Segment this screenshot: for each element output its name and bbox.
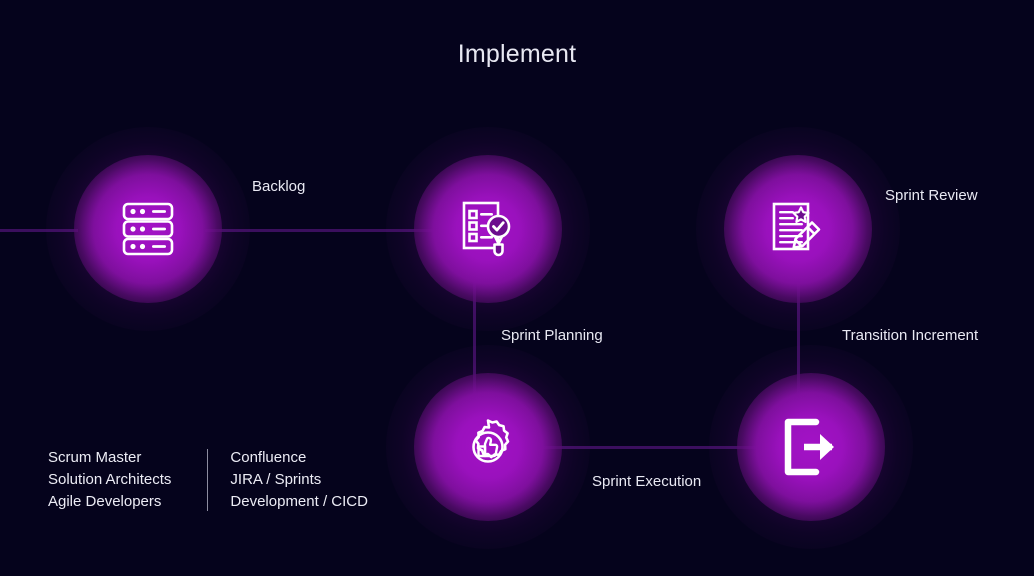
- edge-label-backlog: Backlog: [252, 178, 305, 195]
- document-star-pencil-icon: [766, 197, 830, 261]
- logout-arrow-icon: [778, 416, 844, 478]
- footer-roles-column: Scrum Master Solution Architects Agile D…: [48, 447, 171, 513]
- edge-label-sprint-execution: Sprint Execution: [592, 473, 701, 490]
- footer-tools-column: Confluence JIRA / Sprints Development / …: [230, 447, 368, 513]
- footer-tool-item: JIRA / Sprints: [230, 469, 368, 491]
- connector-left-edge-to-node1: [0, 229, 78, 232]
- footer: Scrum Master Solution Architects Agile D…: [48, 447, 368, 513]
- footer-tool-item: Confluence: [230, 447, 368, 469]
- node-backlog-source[interactable]: [74, 155, 222, 303]
- edge-label-transition-increment: Transition Increment: [842, 327, 978, 344]
- footer-role-item: Agile Developers: [48, 491, 171, 513]
- node-transition[interactable]: [737, 373, 885, 521]
- page-title: Implement: [0, 40, 1034, 69]
- footer-role-item: Scrum Master: [48, 447, 171, 469]
- node-sprint-execution[interactable]: [414, 373, 562, 521]
- edge-label-sprint-review: Sprint Review: [885, 187, 978, 204]
- implement-diagram: Implement: [0, 0, 1034, 576]
- footer-role-item: Solution Architects: [48, 469, 171, 491]
- gear-thumbs-up-icon: [455, 414, 521, 480]
- edge-label-sprint-planning: Sprint Planning: [501, 327, 603, 344]
- node-sprint-review[interactable]: [724, 155, 872, 303]
- checklist-search-icon: [456, 197, 520, 261]
- node-sprint-planning[interactable]: [414, 155, 562, 303]
- footer-divider: [207, 449, 208, 511]
- footer-tool-item: Development / CICD: [230, 491, 368, 513]
- server-stack-icon: [115, 196, 181, 262]
